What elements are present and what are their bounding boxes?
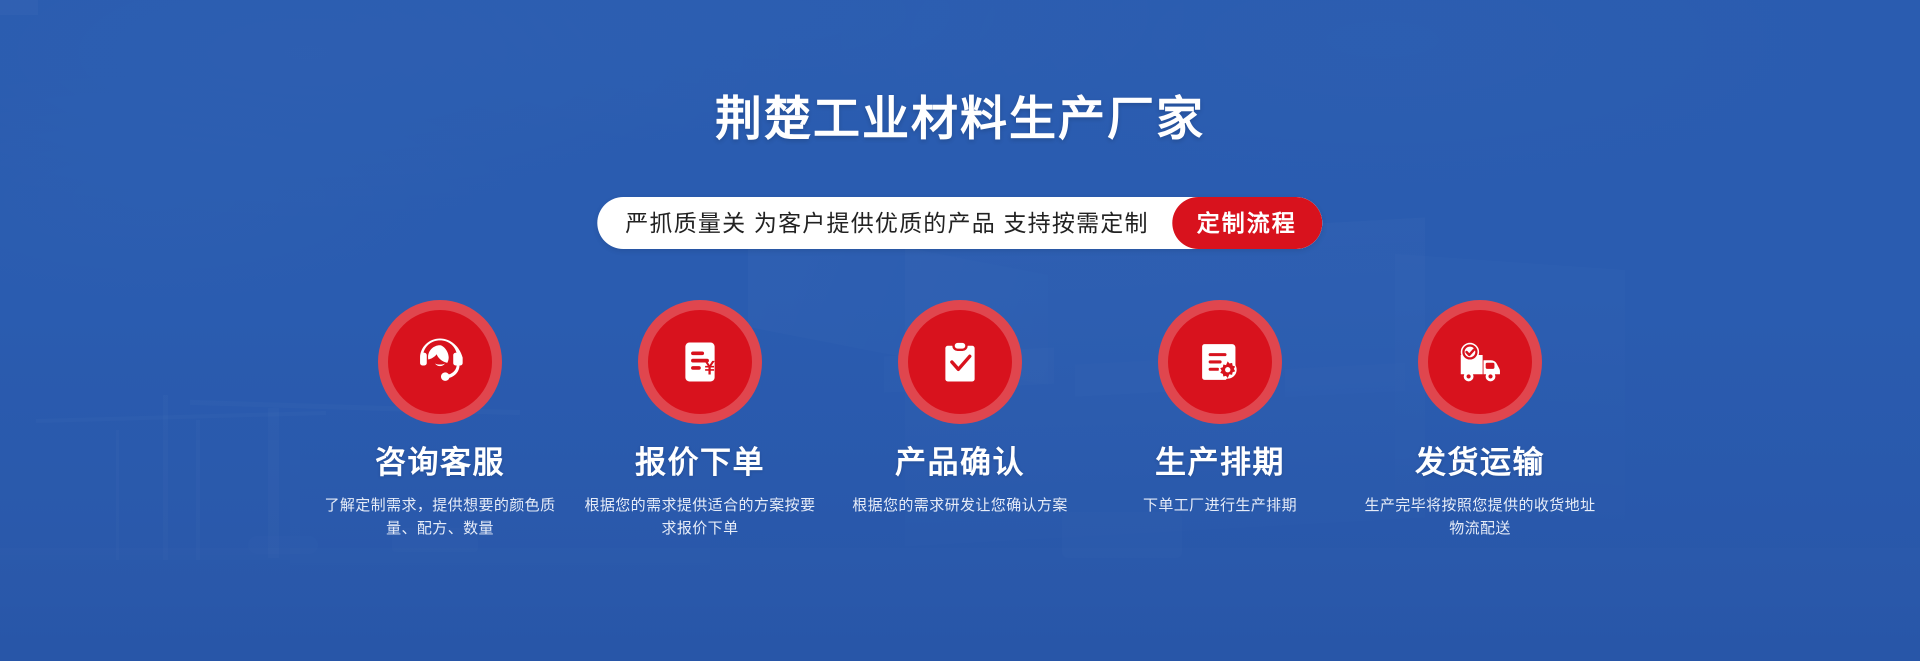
document-gear-icon <box>1194 336 1246 388</box>
custom-process-button[interactable]: 定制流程 <box>1173 197 1323 249</box>
step-title: 发货运输 <box>1415 444 1545 483</box>
invoice-yuan-icon <box>674 336 726 388</box>
step-description: 根据您的需求提供适合的方案按要求报价下单 <box>584 494 816 541</box>
step-icon-badge <box>378 300 502 424</box>
step-title: 生产排期 <box>1155 444 1285 483</box>
process-step-product-confirm[interactable]: 产品确认 根据您的需求研发让您确认方案 <box>830 300 1090 517</box>
process-steps: 咨询客服 了解定制需求，提供想要的颜色质量、配方、数量 <box>0 300 1920 540</box>
step-icon-badge <box>898 300 1022 424</box>
banner-headline: 荆楚工业材料生产厂家 <box>0 91 1920 147</box>
banner-content: 荆楚工业材料生产厂家 严抓质量关 为客户提供优质的产品 支持按需定制 定制流程 <box>0 0 1920 661</box>
process-step-quote-order[interactable]: 报价下单 根据您的需求提供适合的方案按要求报价下单 <box>570 300 830 540</box>
step-title: 报价下单 <box>635 444 765 483</box>
step-title: 产品确认 <box>895 444 1025 483</box>
delivery-truck-check-icon <box>1452 334 1508 390</box>
step-description: 生产完毕将按照您提供的收货地址物流配送 <box>1364 494 1596 541</box>
step-description: 了解定制需求，提供想要的颜色质量、配方、数量 <box>324 494 556 541</box>
step-description: 下单工厂进行生产排期 <box>1143 494 1297 517</box>
process-step-production-schedule[interactable]: 生产排期 下单工厂进行生产排期 <box>1090 300 1350 517</box>
step-icon-badge <box>638 300 762 424</box>
step-icon-badge <box>1418 300 1542 424</box>
step-icon-badge <box>1158 300 1282 424</box>
headset-support-icon <box>411 333 469 391</box>
banner-subtitle-bar: 严抓质量关 为客户提供优质的产品 支持按需定制 定制流程 <box>597 197 1322 249</box>
process-step-consult[interactable]: 咨询客服 了解定制需求，提供想要的颜色质量、配方、数量 <box>310 300 570 540</box>
step-title: 咨询客服 <box>375 444 505 483</box>
process-step-shipping[interactable]: 发货运输 生产完毕将按照您提供的收货地址物流配送 <box>1350 300 1610 540</box>
promo-banner: 荆楚工业材料生产厂家 严抓质量关 为客户提供优质的产品 支持按需定制 定制流程 <box>0 0 1920 661</box>
step-description: 根据您的需求研发让您确认方案 <box>852 494 1068 517</box>
banner-subtitle-text: 严抓质量关 为客户提供优质的产品 支持按需定制 <box>597 197 1172 249</box>
clipboard-check-icon <box>934 336 986 388</box>
